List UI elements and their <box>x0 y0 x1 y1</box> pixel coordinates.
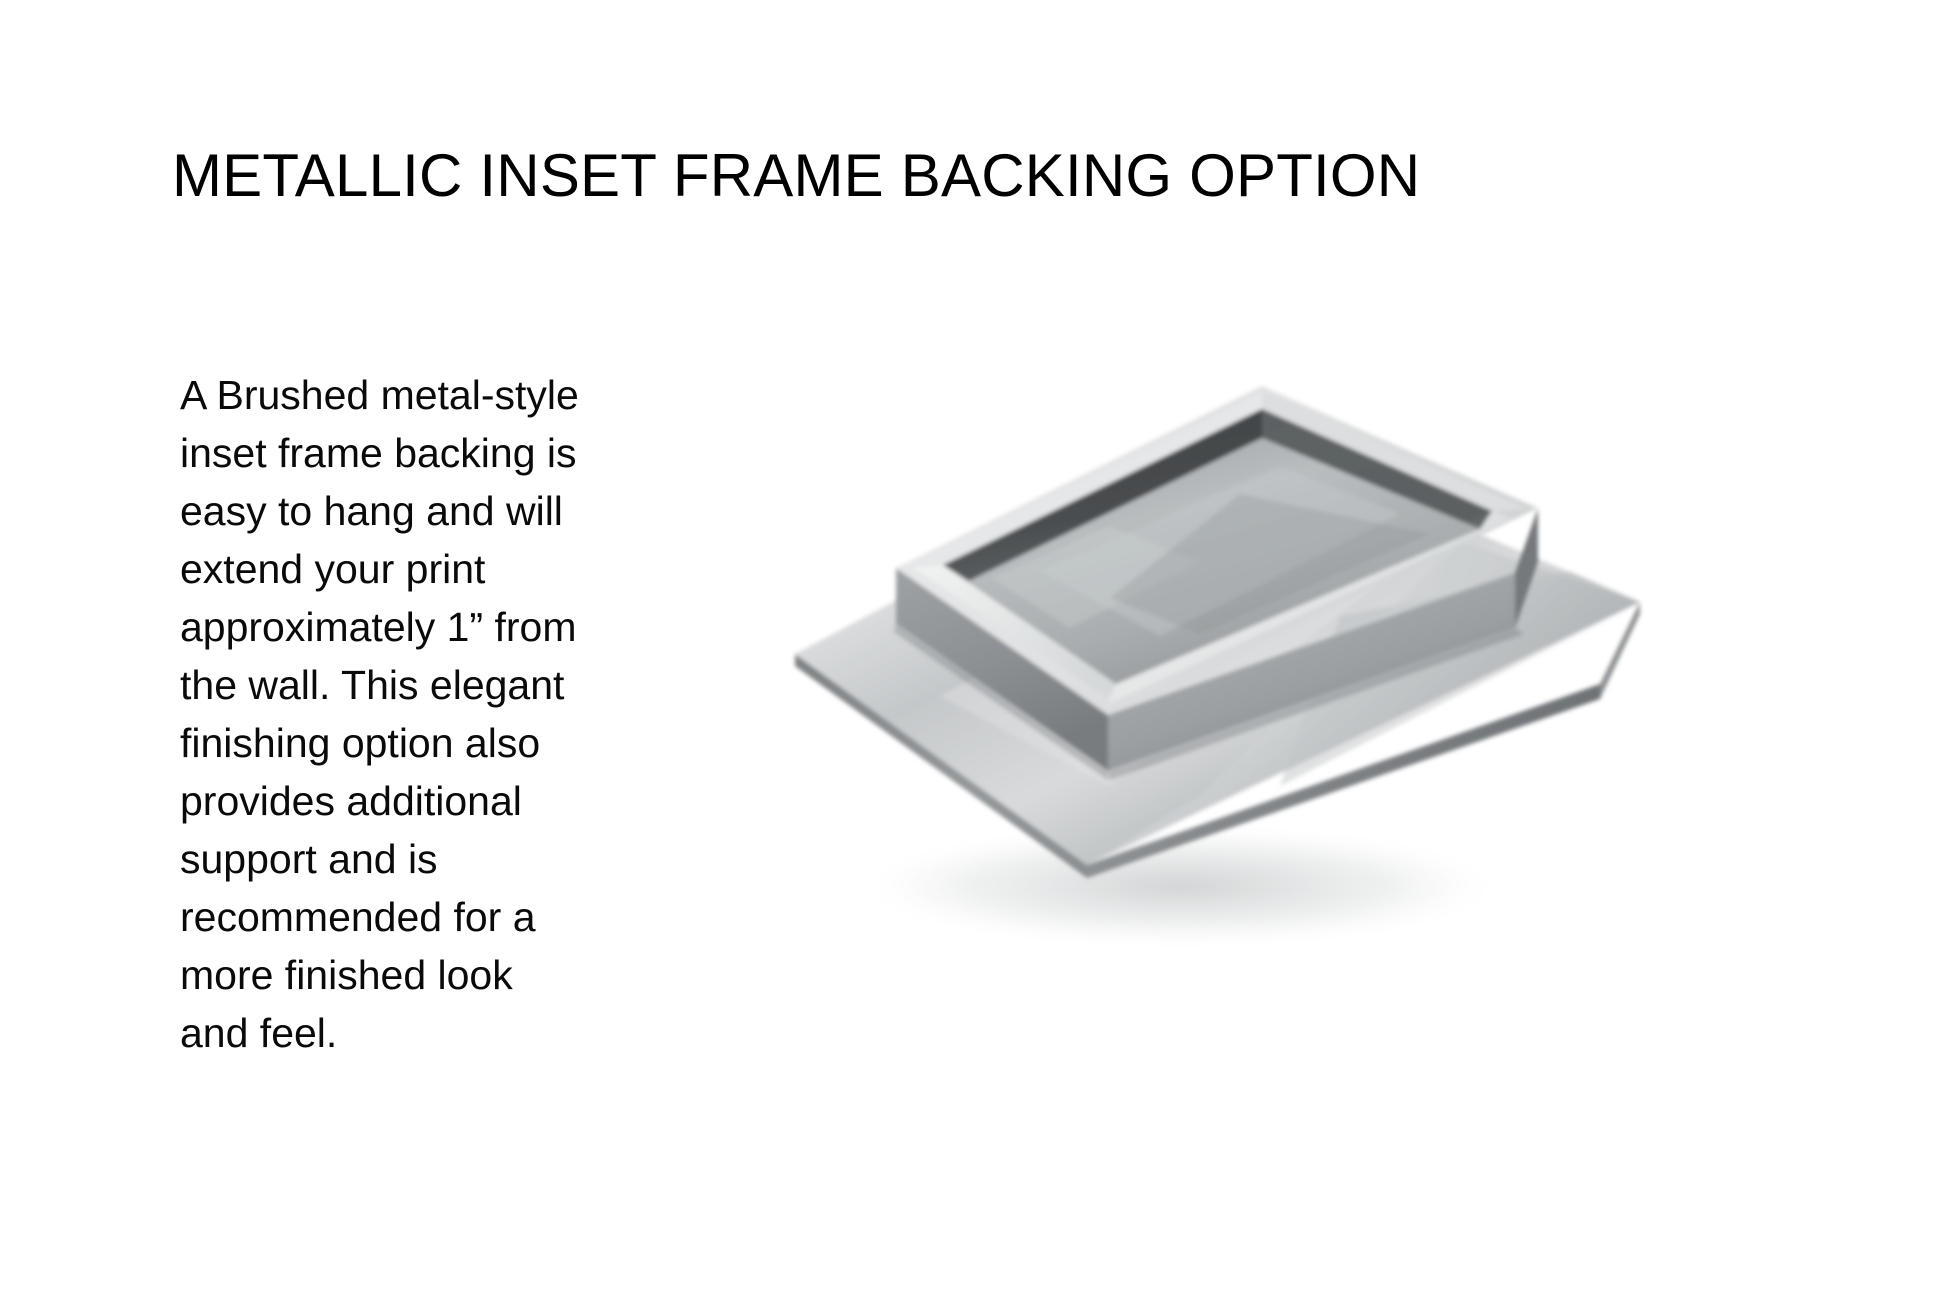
body-line: more finished look <box>180 946 650 1004</box>
body-line: finishing option also <box>180 714 650 772</box>
body-line: support and is <box>180 830 650 888</box>
body-line: the wall. This elegant <box>180 656 650 714</box>
body-line: provides additional <box>180 772 650 830</box>
slide-canvas: METALLIC INSET FRAME BACKING OPTION A Br… <box>0 0 1946 1297</box>
description-paragraph: A Brushed metal-style inset frame backin… <box>180 366 650 1062</box>
body-line: and feel. <box>180 1004 650 1062</box>
body-line: approximately 1” from <box>180 598 650 656</box>
body-line: recommended for a <box>180 888 650 946</box>
page-title: METALLIC INSET FRAME BACKING OPTION <box>172 141 1812 211</box>
metallic-inset-frame-photo <box>640 366 1700 966</box>
body-line: easy to hang and will <box>180 482 650 540</box>
frame-illustration <box>640 366 1700 966</box>
body-line: inset frame backing is <box>180 424 650 482</box>
body-line: A Brushed metal-style <box>180 366 650 424</box>
body-line: extend your print <box>180 540 650 598</box>
